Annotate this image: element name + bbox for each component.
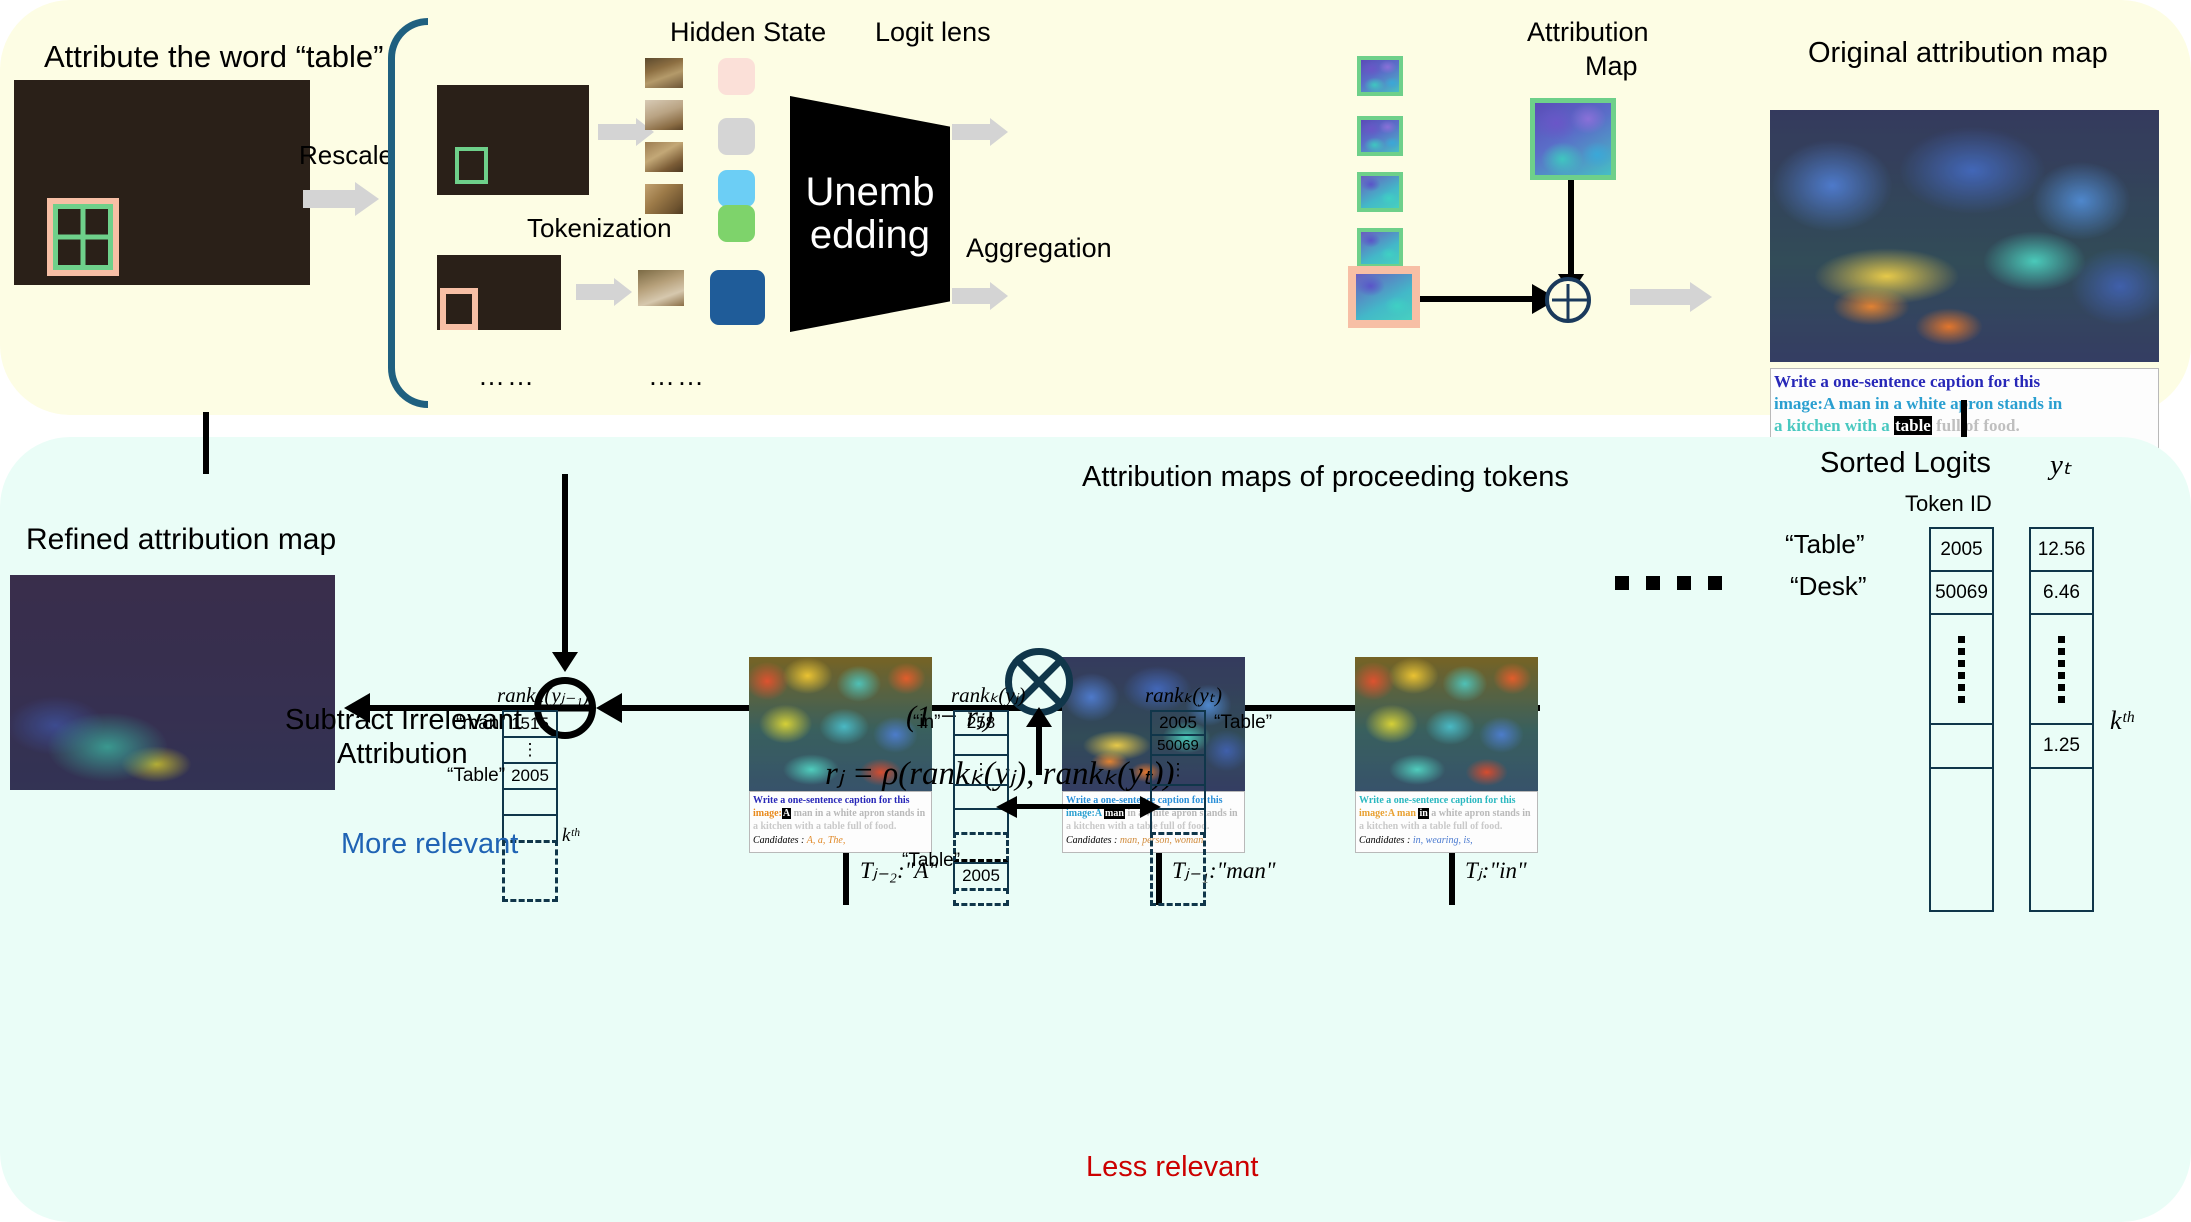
logit-lens-label: Logit lens — [875, 18, 991, 48]
table-row: 258 — [953, 710, 1009, 734]
rank-j-label-in: “in” — [913, 713, 940, 734]
subtract-feed-line — [562, 474, 568, 654]
plus-operator-icon — [1545, 277, 1591, 323]
token-patch-1b — [645, 100, 683, 130]
rescaled-2-peach-box — [440, 288, 478, 330]
thumbnail-caption-1: Write a one-sentence caption for this im… — [749, 791, 932, 853]
rank-compare-line — [1016, 804, 1146, 809]
table-row: 2005 — [1929, 527, 1994, 570]
token-label-j: Tⱼ:"in" — [1465, 858, 1527, 883]
rank-t-header: rankₖ(yₜ) — [1145, 684, 1222, 707]
subtract-label-line2: Attribution — [337, 739, 468, 771]
agg-to-plus-line — [1420, 296, 1538, 302]
more-relevant-label: More relevant — [341, 829, 518, 861]
token-id-header: Token ID — [1905, 492, 1992, 516]
token-patch-1d — [645, 184, 683, 214]
vertical-dots-icon — [2058, 636, 2065, 703]
table-row — [2029, 613, 2094, 723]
ellipsis-row-1: …… — [478, 362, 536, 392]
table-row — [1929, 613, 1994, 723]
aggregation-map-peach — [1348, 266, 1420, 328]
thumbnail-caption-3: Write a one-sentence caption for this im… — [1355, 791, 1538, 853]
aggregation-label: Aggregation — [966, 234, 1112, 264]
table-row: 6.46 — [2029, 570, 2094, 613]
token-patch-2a — [638, 270, 684, 306]
rank-j-minus-1-table: 1515 ⋮ 2005 — [502, 710, 558, 902]
logit-lens-map-2 — [1357, 116, 1403, 156]
vertical-dots-icon — [1958, 636, 1965, 703]
table-row: 12.56 — [2029, 527, 2094, 570]
table-row — [2029, 767, 2094, 912]
caption-line-1: Write a one-sentence caption for this — [1774, 371, 2155, 393]
logit-value-table: 12.56 6.46 1.25 — [2029, 527, 2094, 912]
token-id-table: 2005 50069 — [1929, 527, 1994, 912]
table-row: 50069 — [1150, 734, 1206, 754]
hidden-state-swatch-3 — [718, 170, 755, 207]
token-patch-1a — [645, 58, 683, 88]
table-row: 2005 — [953, 862, 1009, 888]
to-unembedding-arrow-2-icon — [952, 282, 1008, 310]
sorted-logits-yt-label: yₜ — [2050, 450, 2071, 482]
logit-lens-map-3 — [1357, 172, 1403, 212]
to-unembedding-arrow-icon — [952, 118, 1008, 146]
proceeding-title: Attribution maps of proceeding tokens — [1082, 462, 1569, 494]
thumbnails-ellipsis — [1615, 576, 1722, 590]
subtract-label-line1: Subtract Irrelevant — [285, 705, 522, 737]
rank-t-label-table: “Table” — [1214, 713, 1272, 734]
original-attribution-map — [1770, 110, 2159, 362]
attr-map-down-line — [1568, 180, 1574, 276]
attribution-map-green — [1530, 98, 1616, 180]
table-row: ⋮ — [953, 754, 1009, 784]
thumb3-drop-line — [1449, 853, 1455, 905]
table-row — [1929, 767, 1994, 912]
sorted-logits-label-desk: “Desk” — [1790, 572, 1867, 601]
table-row: 2005 — [502, 762, 558, 788]
caption-highlight-table: table — [1894, 416, 1932, 435]
tokenize-arrow-2-icon — [576, 278, 632, 306]
refined-attribution-map — [10, 575, 335, 790]
ellipsis-row-2: …… — [648, 362, 706, 392]
panel-link-left — [203, 412, 209, 474]
rank-j-header: rankₖ(yⱼ) — [951, 684, 1025, 707]
table-row-dashed — [953, 832, 1009, 862]
hidden-state-swatch-1 — [718, 58, 755, 95]
thumbnail-map-3 — [1355, 657, 1538, 791]
table-row — [953, 734, 1009, 754]
rank-compare-head-left-icon — [996, 796, 1017, 818]
table-row: ⋮ — [502, 736, 558, 762]
attribution-map-label-line2: Map — [1585, 52, 1638, 82]
to-original-map-arrow-icon — [1630, 282, 1716, 312]
attribution-map-label-line1: Attribution — [1527, 18, 1649, 48]
attribute-word-title: Attribute the word “table” — [44, 40, 383, 74]
original-map-title: Original attribution map — [1808, 38, 2108, 70]
rescale-label: Rescale — [299, 141, 393, 170]
table-row-dashed — [1150, 832, 1206, 906]
rank-compare-head-right-icon — [1140, 796, 1161, 818]
token-patch-1c — [645, 142, 683, 172]
thumb1-drop-line — [843, 853, 849, 905]
subtract-feed-head-icon — [552, 652, 578, 672]
hidden-state-label: Hidden State — [670, 18, 826, 48]
sorted-logits-title: Sorted Logits — [1820, 448, 1991, 480]
unembedding-line-2: edding — [806, 214, 935, 257]
tokenization-label: Tokenization — [527, 214, 672, 243]
bus-into-subtract-head-icon — [596, 693, 622, 723]
unembedding-line-1: Unemb — [806, 171, 935, 214]
table-row: 2005 — [1150, 710, 1206, 734]
table-row — [502, 788, 558, 814]
less-relevant-label: Less relevant — [1086, 1152, 1259, 1184]
unembedding-block: Unemb edding — [790, 96, 950, 332]
table-row: 50069 — [1929, 570, 1994, 613]
rescale-arrow-icon — [303, 182, 379, 216]
table-row: 1.25 — [2029, 723, 2094, 767]
table-row: ⋮ — [1150, 754, 1206, 784]
rank-j-label-table: “Table” — [902, 851, 960, 872]
logit-lens-map-4 — [1357, 228, 1403, 268]
hidden-state-swatch-2 — [718, 118, 755, 155]
group-bracket — [388, 18, 428, 408]
rank-j-minus-1-kth: kᵗʰ — [562, 826, 579, 847]
logit-lens-map-1 — [1357, 56, 1403, 96]
source-green-box — [53, 204, 113, 270]
table-row — [1929, 723, 1994, 767]
rescaled-1-green-box — [455, 147, 488, 184]
refined-map-title: Refined attribution map — [26, 523, 336, 556]
sorted-logits-kth: kᵗʰ — [2110, 707, 2133, 736]
multiply-input-head-icon — [1026, 707, 1052, 727]
hidden-state-swatch-4 — [718, 205, 755, 242]
hidden-state-swatch-5 — [710, 270, 765, 325]
sorted-logits-label-table: “Table” — [1785, 530, 1864, 559]
table-row-dashed — [953, 888, 1009, 906]
